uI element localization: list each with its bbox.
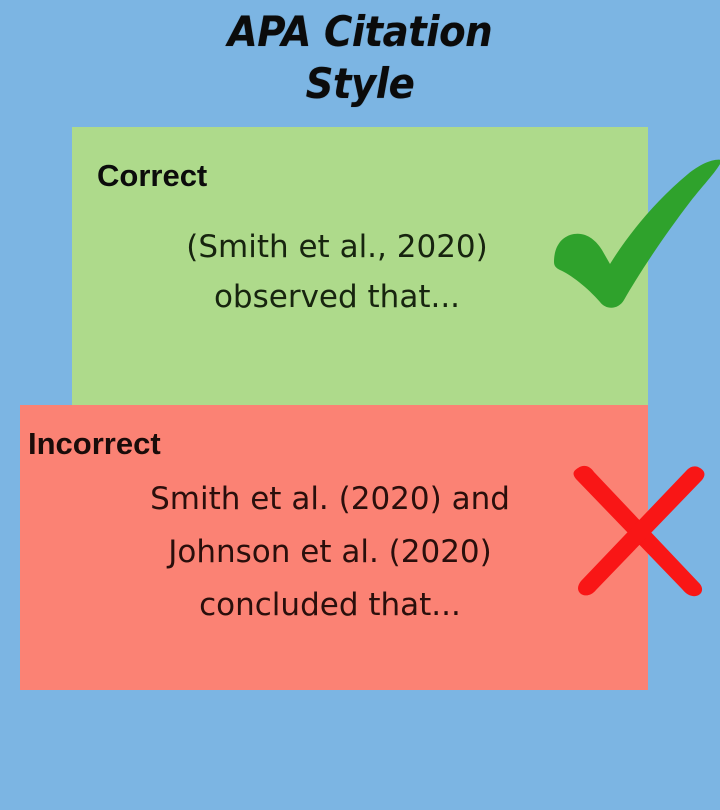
correct-example-text: (Smith et al., 2020) observed that... (102, 222, 572, 322)
page-title: APA Citation Style (29, 6, 691, 110)
correct-example-card: Correct (Smith et al., 2020) observed th… (72, 127, 648, 405)
correct-text-line-1: (Smith et al., 2020) (102, 222, 572, 272)
incorrect-text-line-1: Smith et al. (2020) and (80, 473, 580, 526)
correct-label: Correct (97, 159, 207, 193)
incorrect-text-line-3: concluded that... (80, 579, 580, 632)
page-title-line-1: APA Citation (29, 6, 691, 58)
incorrect-label: Incorrect (28, 427, 161, 461)
slide-canvas: APA Citation Style Correct (Smith et al.… (0, 0, 720, 810)
incorrect-example-text: Smith et al. (2020) and Johnson et al. (… (80, 473, 580, 632)
correct-text-line-2: observed that... (102, 272, 572, 322)
incorrect-text-line-2: Johnson et al. (2020) (80, 526, 580, 579)
incorrect-example-card: Incorrect Smith et al. (2020) and Johnso… (20, 405, 648, 690)
page-title-line-2: Style (29, 58, 691, 110)
